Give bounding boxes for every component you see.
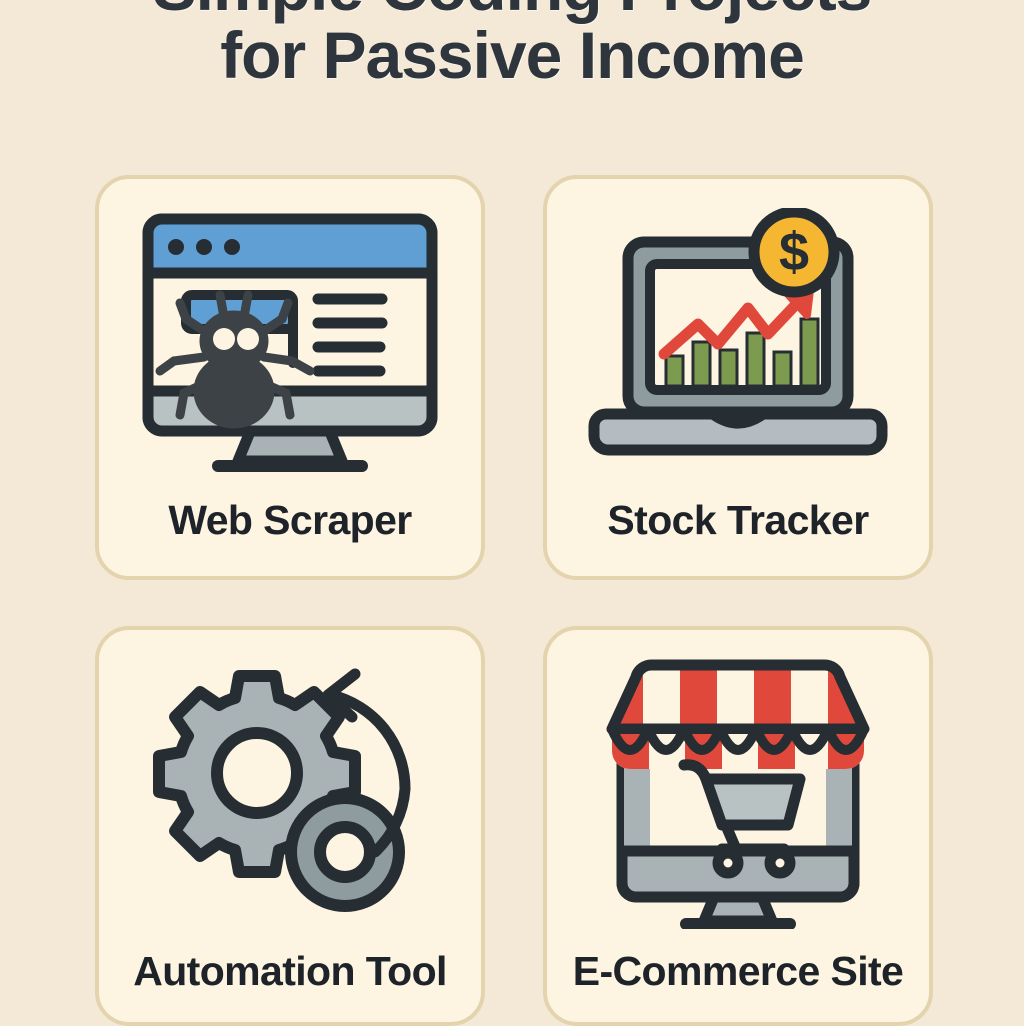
storefront-monitor-with-cart-icon bbox=[547, 644, 929, 944]
card-stock-tracker[interactable]: $ Stock Tracker bbox=[543, 175, 933, 580]
page-title: Simple Coding Projects for Passive Incom… bbox=[0, 0, 1024, 90]
gears-with-refresh-arrow-icon bbox=[99, 644, 481, 944]
project-card-grid: Web Scraper bbox=[95, 175, 933, 1026]
titlebar-dots-icon bbox=[168, 239, 240, 255]
spider-bug-icon bbox=[160, 295, 310, 424]
card-label-automation-tool: Automation Tool bbox=[133, 948, 447, 995]
browser-window-with-bug-icon bbox=[99, 193, 481, 493]
striped-awning-icon bbox=[606, 659, 866, 773]
svg-text:$: $ bbox=[779, 222, 809, 282]
card-ecommerce-site[interactable]: E-Commerce Site bbox=[543, 626, 933, 1026]
poster-root: Simple Coding Projects for Passive Incom… bbox=[0, 0, 1024, 1024]
card-web-scraper[interactable]: Web Scraper bbox=[95, 175, 485, 580]
laptop-base bbox=[594, 414, 882, 450]
laptop-with-growth-chart-icon: $ bbox=[547, 193, 929, 493]
dollar-coin-icon: $ bbox=[754, 212, 834, 292]
card-automation-tool[interactable]: Automation Tool bbox=[95, 626, 485, 1026]
card-label-ecommerce-site: E-Commerce Site bbox=[573, 948, 904, 995]
page-title-line-2: for Passive Income bbox=[0, 22, 1024, 90]
card-label-web-scraper: Web Scraper bbox=[168, 497, 411, 544]
card-label-stock-tracker: Stock Tracker bbox=[607, 497, 868, 544]
